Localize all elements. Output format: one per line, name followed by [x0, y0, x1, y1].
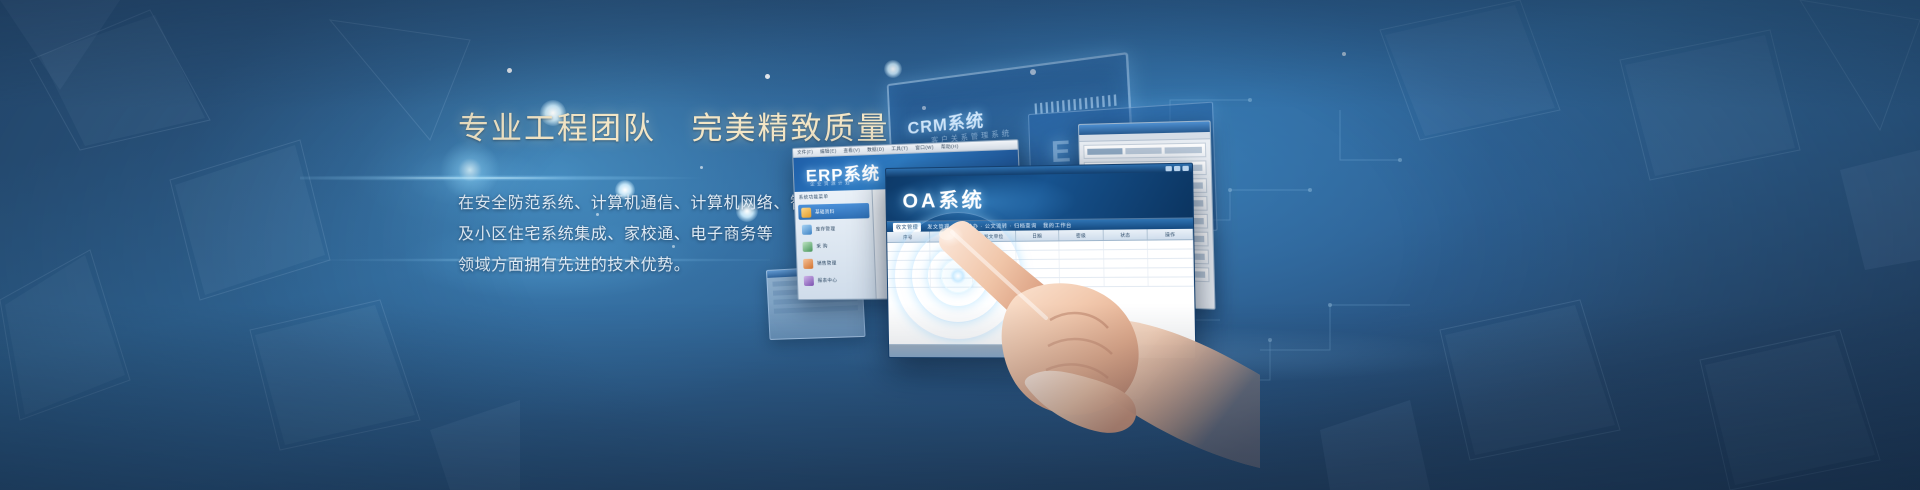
row-cell: [930, 242, 973, 250]
row-cell: [1060, 241, 1104, 250]
erp-sidebar: 系统功能菜单 基础资料 库存管理 采 购 销: [795, 190, 877, 300]
cart-icon: [802, 241, 812, 251]
decorative-polygons-right: [1320, 0, 1920, 490]
menu-item-file[interactable]: 文件(F): [797, 149, 813, 156]
sidebar-item-label: 销售管理: [817, 260, 837, 266]
row-cell: [1104, 278, 1149, 286]
software-screens-cluster: CRM系统 客户关系管理系统 EPS HANDLE: [760, 20, 1400, 420]
sidebar-item-label: 库存管理: [816, 226, 836, 232]
menu-item-window[interactable]: 窗口(W): [915, 145, 934, 152]
sparkle-particle: [507, 68, 512, 73]
column-header-action: 操作: [1148, 229, 1193, 240]
menu-item-edit[interactable]: 编辑(E): [820, 148, 837, 155]
row-cell: [1016, 251, 1060, 259]
row-cell: [973, 251, 1016, 259]
decorative-polygons-left: [0, 0, 520, 490]
mini-content-line: [774, 305, 858, 314]
row-cell: [973, 269, 1016, 277]
sidebar-item-reports[interactable]: 报表中心: [801, 272, 873, 288]
column-header-title: 文件标题: [930, 231, 973, 241]
row-cell: [1104, 241, 1149, 250]
sidebar-item-label: 报表中心: [818, 277, 838, 283]
row-cell: [1087, 148, 1122, 155]
column-header-sender: 发文单位: [972, 231, 1015, 242]
row-cell: [973, 278, 1016, 286]
oa-data-grid[interactable]: 序号 文件标题 发文单位 日期 密级 状态 操作: [887, 229, 1195, 345]
row-cell: [930, 269, 973, 277]
row-cell: [1017, 278, 1061, 286]
sidebar-item-sales[interactable]: 销售管理: [800, 255, 872, 271]
column-header-status: 状态: [1104, 229, 1149, 240]
row-cell: [1125, 148, 1161, 155]
sidebar-item-inventory[interactable]: 库存管理: [799, 220, 870, 237]
oa-statusbar: [889, 344, 1195, 359]
row-cell: [888, 261, 931, 269]
tab-workflow[interactable]: 流程待办 · 公文流转 · 归档查询: [956, 222, 1037, 230]
row-cell: [1104, 268, 1149, 276]
row-cell: [930, 251, 973, 259]
tab-outgoing-docs[interactable]: 发文管理: [927, 223, 950, 230]
row-cell: [930, 260, 973, 268]
row-cell: [1016, 269, 1060, 277]
maximize-icon[interactable]: [1174, 165, 1180, 170]
row-cell: [973, 260, 1016, 268]
chart-icon: [804, 275, 814, 285]
sidebar-item-purchase[interactable]: 采 购: [799, 238, 871, 254]
row-cell: [888, 270, 931, 278]
sidebar-item-label: 采 购: [816, 243, 828, 249]
row-cell: [1060, 269, 1104, 277]
row-cell: [1016, 241, 1060, 250]
tab-incoming-docs[interactable]: 收文管理: [893, 222, 921, 231]
oa-window-title: OA系统: [902, 183, 985, 213]
table-row[interactable]: [1083, 143, 1206, 159]
row-cell: [1060, 259, 1104, 267]
erp-sidebar-title: 系统功能菜单: [795, 193, 872, 203]
row-cell: [930, 279, 973, 287]
tab-workspace[interactable]: 我的工作台: [1043, 221, 1072, 228]
minimize-icon[interactable]: [1165, 166, 1171, 171]
row-cell: [1165, 147, 1202, 154]
erp-window-subtitle: 企业资源计划: [810, 180, 852, 187]
oa-header-banner: OA系统: [886, 172, 1193, 221]
row-cell: [1016, 260, 1060, 268]
column-header-index: 序号: [887, 232, 930, 242]
row-cell: [887, 252, 930, 260]
hero-banner: 专业工程团队 完美精致质量 在安全防范系统、计算机通信、计算机网络、智能大厦 及…: [0, 0, 1920, 490]
sparkle-particle: [700, 166, 703, 169]
row-cell: [1149, 277, 1194, 285]
row-cell: [1060, 278, 1104, 286]
headline-part-1: 专业工程团队: [458, 111, 656, 146]
sidebar-item-basic-data[interactable]: 基础资料: [798, 203, 869, 220]
oa-system-window[interactable]: OA系统 收文管理 发文管理 流程待办 · 公文流转 · 归档查询 我的工作台 …: [885, 163, 1196, 360]
row-cell: [973, 242, 1016, 250]
row-cell: [1148, 240, 1193, 249]
row-cell: [888, 279, 931, 287]
menu-item-data[interactable]: 数据(D): [867, 146, 884, 153]
tag-icon: [803, 258, 813, 268]
row-cell: [1149, 259, 1194, 268]
menu-item-view[interactable]: 查看(V): [843, 147, 860, 154]
row-cell: [1104, 259, 1149, 268]
row-cell: [1104, 250, 1149, 259]
row-cell: [887, 243, 930, 251]
row-cell: [1060, 250, 1104, 259]
box-icon: [802, 224, 812, 234]
row-cell: [1149, 268, 1194, 277]
sidebar-item-label: 基础资料: [815, 208, 835, 215]
menu-item-tools[interactable]: 工具(T): [891, 146, 908, 153]
column-header-date: 日期: [1016, 230, 1060, 241]
folder-icon: [801, 207, 811, 217]
column-header-level: 密级: [1059, 230, 1103, 241]
table-row[interactable]: [888, 277, 1194, 288]
row-cell: [1149, 249, 1194, 258]
close-icon[interactable]: [1182, 165, 1188, 170]
menu-item-help[interactable]: 帮助(H): [941, 144, 959, 151]
